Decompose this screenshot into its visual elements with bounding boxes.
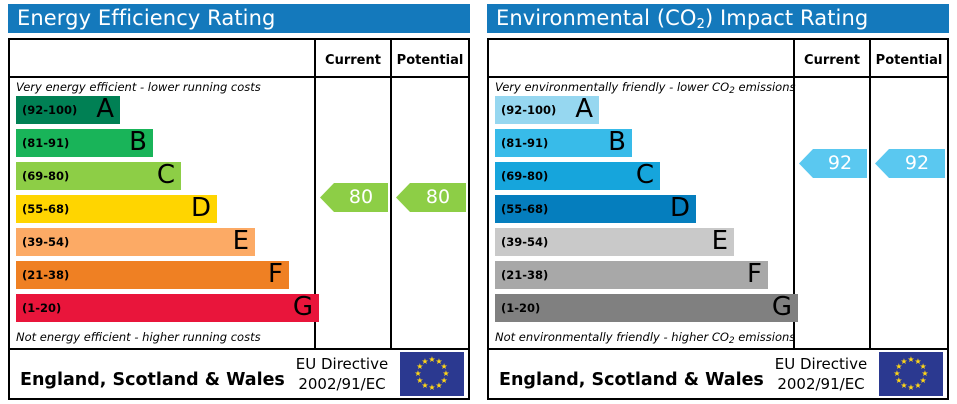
footer-divider (10, 348, 468, 350)
band-letter-label: F (747, 257, 762, 291)
footer-directive-environmental: EU Directive 2002/91/EC (765, 354, 877, 394)
eu-flag-icon: ★★★★★★★★★★★★ (400, 352, 464, 396)
band-b: (81-91)B (16, 129, 153, 157)
band-range-label: (39-54) (501, 228, 548, 256)
epc-charts-page: Energy Efficiency Rating Current Potenti… (0, 0, 957, 404)
band-a: (92-100)A (495, 96, 599, 124)
band-letter-label: A (96, 92, 114, 126)
column-header-current: Current (795, 48, 869, 74)
band-range-label: (1-20) (501, 294, 540, 322)
band-c: (69-80)C (16, 162, 181, 190)
band-range-label: (92-100) (22, 96, 77, 124)
band-range-label: (1-20) (22, 294, 61, 322)
eu-star-icon: ★ (421, 358, 429, 366)
band-range-label: (92-100) (501, 96, 556, 124)
directive-line-2: 2002/91/EC (765, 374, 877, 394)
energy-efficiency-rating-chart: Energy Efficiency Rating Current Potenti… (0, 0, 478, 404)
caption-top-environmental: Very environmentally friendly - lower CO… (495, 80, 795, 94)
chart-title-environmental: Environmental (CO2) Impact Rating (487, 4, 949, 33)
caption-bottom-environmental: Not environmentally friendly - higher CO… (495, 330, 795, 344)
band-letter-label: D (191, 191, 211, 225)
band-g: (1-20)G (16, 294, 319, 322)
band-d: (55-68)D (16, 195, 217, 223)
directive-line-1: EU Directive (286, 354, 398, 374)
eu-star-icon: ★ (416, 377, 424, 385)
chart-frame-environmental: Current Potential Very environmentally f… (487, 38, 949, 400)
band-letter-label: B (608, 125, 626, 159)
band-letter-label: C (157, 158, 175, 192)
caption-bottom-energy: Not energy efficient - higher running co… (16, 330, 261, 344)
footer-region-energy: England, Scotland & Wales (20, 362, 290, 398)
band-range-label: (21-38) (501, 261, 548, 289)
band-letter-label: G (293, 290, 313, 324)
band-range-label: (69-80) (501, 162, 548, 190)
footer-region-environmental: England, Scotland & Wales (499, 362, 769, 398)
eu-star-icon: ★ (414, 370, 422, 378)
band-f: (21-38)F (495, 261, 768, 289)
potential-column-divider (869, 40, 871, 350)
band-d: (55-68)D (495, 195, 696, 223)
current-rating-arrow-energy: 80 (320, 183, 388, 212)
band-list-environmental: (92-100)A(81-91)B(69-80)C(55-68)D(39-54)… (495, 96, 791, 326)
band-letter-label: E (712, 224, 728, 258)
band-range-label: (69-80) (22, 162, 69, 190)
band-range-label: (39-54) (22, 228, 69, 256)
eu-star-icon: ★ (907, 384, 915, 392)
band-c: (69-80)C (495, 162, 660, 190)
footer-directive-energy: EU Directive 2002/91/EC (286, 354, 398, 394)
eu-star-icon: ★ (914, 382, 922, 390)
band-range-label: (21-38) (22, 261, 69, 289)
chart-title-energy: Energy Efficiency Rating (8, 4, 470, 33)
band-letter-label: C (636, 158, 654, 192)
directive-line-2: 2002/91/EC (286, 374, 398, 394)
current-rating-arrow-environmental: 92 (799, 149, 867, 178)
potential-rating-arrow-environmental: 92 (875, 149, 945, 178)
header-divider (489, 76, 947, 78)
column-header-potential: Potential (871, 48, 947, 74)
eu-star-icon: ★ (900, 358, 908, 366)
band-range-label: (81-91) (501, 129, 548, 157)
eu-star-icon: ★ (895, 377, 903, 385)
column-header-potential: Potential (392, 48, 468, 74)
band-range-label: (81-91) (22, 129, 69, 157)
environmental-impact-rating-chart: Environmental (CO2) Impact Rating Curren… (479, 0, 957, 404)
band-letter-label: D (670, 191, 690, 225)
potential-column-divider (390, 40, 392, 350)
caption-top-energy: Very energy efficient - lower running co… (16, 80, 261, 94)
band-letter-label: B (129, 125, 147, 159)
band-f: (21-38)F (16, 261, 289, 289)
chart-frame-energy: Current Potential Very energy efficient … (8, 38, 470, 400)
band-letter-label: F (268, 257, 283, 291)
eu-star-icon: ★ (435, 382, 443, 390)
column-header-current: Current (316, 48, 390, 74)
eu-flag-icon: ★★★★★★★★★★★★ (879, 352, 943, 396)
band-letter-label: A (575, 92, 593, 126)
header-divider (10, 76, 468, 78)
potential-rating-arrow-energy: 80 (396, 183, 466, 212)
band-e: (39-54)E (16, 228, 255, 256)
band-range-label: (55-68) (22, 195, 69, 223)
band-a: (92-100)A (16, 96, 120, 124)
band-e: (39-54)E (495, 228, 734, 256)
band-list-energy: (92-100)A(81-91)B(69-80)C(55-68)D(39-54)… (16, 96, 312, 326)
eu-star-icon: ★ (428, 384, 436, 392)
band-g: (1-20)G (495, 294, 798, 322)
directive-line-1: EU Directive (765, 354, 877, 374)
band-b: (81-91)B (495, 129, 632, 157)
band-letter-label: E (233, 224, 249, 258)
band-range-label: (55-68) (501, 195, 548, 223)
footer-divider (489, 348, 947, 350)
eu-star-icon: ★ (893, 370, 901, 378)
band-letter-label: G (772, 290, 792, 324)
